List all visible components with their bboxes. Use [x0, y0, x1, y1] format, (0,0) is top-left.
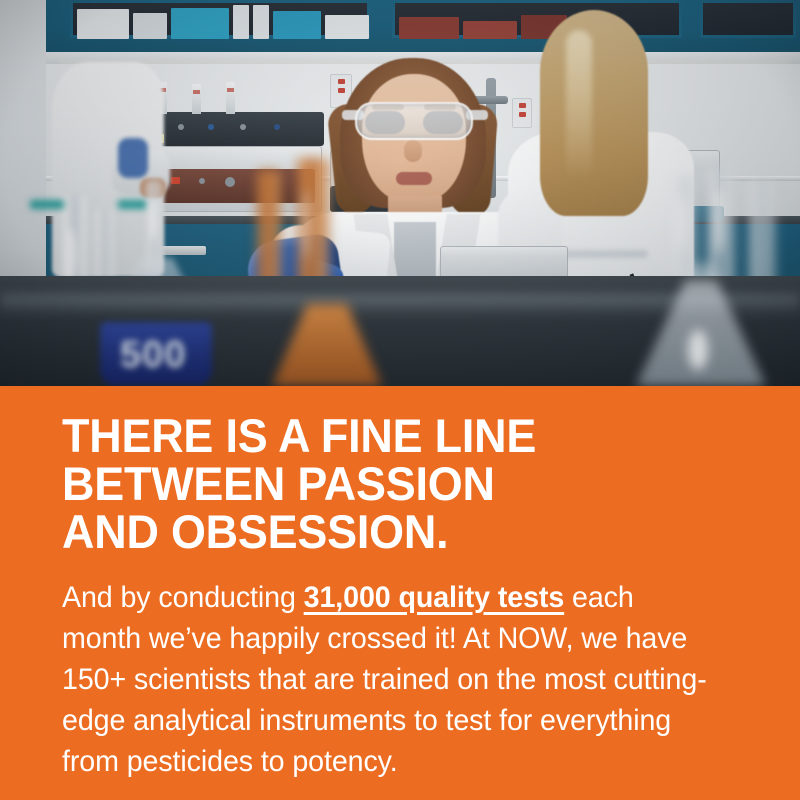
glass-highlight [150, 200, 156, 240]
glass-highlight [714, 188, 723, 254]
test-tube [226, 82, 235, 114]
quality-tests-highlight: 31,000 quality tests [304, 581, 565, 614]
instrument-knob [199, 178, 205, 184]
supply-box [273, 11, 321, 39]
nose [404, 140, 422, 162]
wall-outlet-icon [512, 98, 532, 128]
instrument-knob [178, 124, 184, 130]
upper-cabinet-glass-center [392, 0, 682, 38]
instrument-knob [208, 124, 214, 130]
instrument-knob [274, 124, 280, 130]
glass-highlight [66, 228, 76, 282]
supply-box [463, 21, 517, 39]
body-paragraph: And by conducting 31,000 quality tests e… [62, 577, 718, 782]
upper-cabinet-glass-right [700, 0, 796, 38]
supply-box [253, 5, 269, 39]
blue-glove [118, 138, 148, 178]
status-led-red [171, 177, 180, 184]
supply-box [171, 8, 229, 39]
supply-box [233, 5, 249, 39]
message-panel: THERE IS A FINE LINE BETWEEN PASSION AND… [0, 386, 800, 800]
glass-highlight [302, 190, 310, 260]
supply-box [325, 15, 369, 39]
supply-shelf-left [73, 5, 367, 39]
upper-cabinet-glass-left [70, 0, 370, 38]
advertisement-card: 500 500 [0, 0, 800, 800]
hair-highlight [566, 30, 592, 180]
body-lead: And by conducting [62, 581, 304, 614]
teal-stopper [30, 200, 64, 209]
glass-highlight [678, 196, 686, 254]
glass-highlight [688, 330, 708, 370]
page-title: THERE IS A FINE LINE BETWEEN PASSION AND… [62, 412, 708, 556]
flask-volume-label-front: 500 [120, 334, 186, 377]
laboratory-photo: 500 500 [0, 0, 800, 386]
safety-goggles-icon [355, 102, 473, 140]
mouth [396, 172, 432, 185]
test-tube [192, 84, 201, 114]
supply-box [133, 13, 167, 39]
supply-box [77, 9, 129, 39]
supply-box [399, 17, 459, 39]
instrument-knob [225, 177, 235, 187]
instrument-knob [240, 124, 246, 130]
teal-stopper [118, 200, 148, 209]
bench-equipment-center [440, 246, 568, 280]
hair [540, 10, 648, 216]
